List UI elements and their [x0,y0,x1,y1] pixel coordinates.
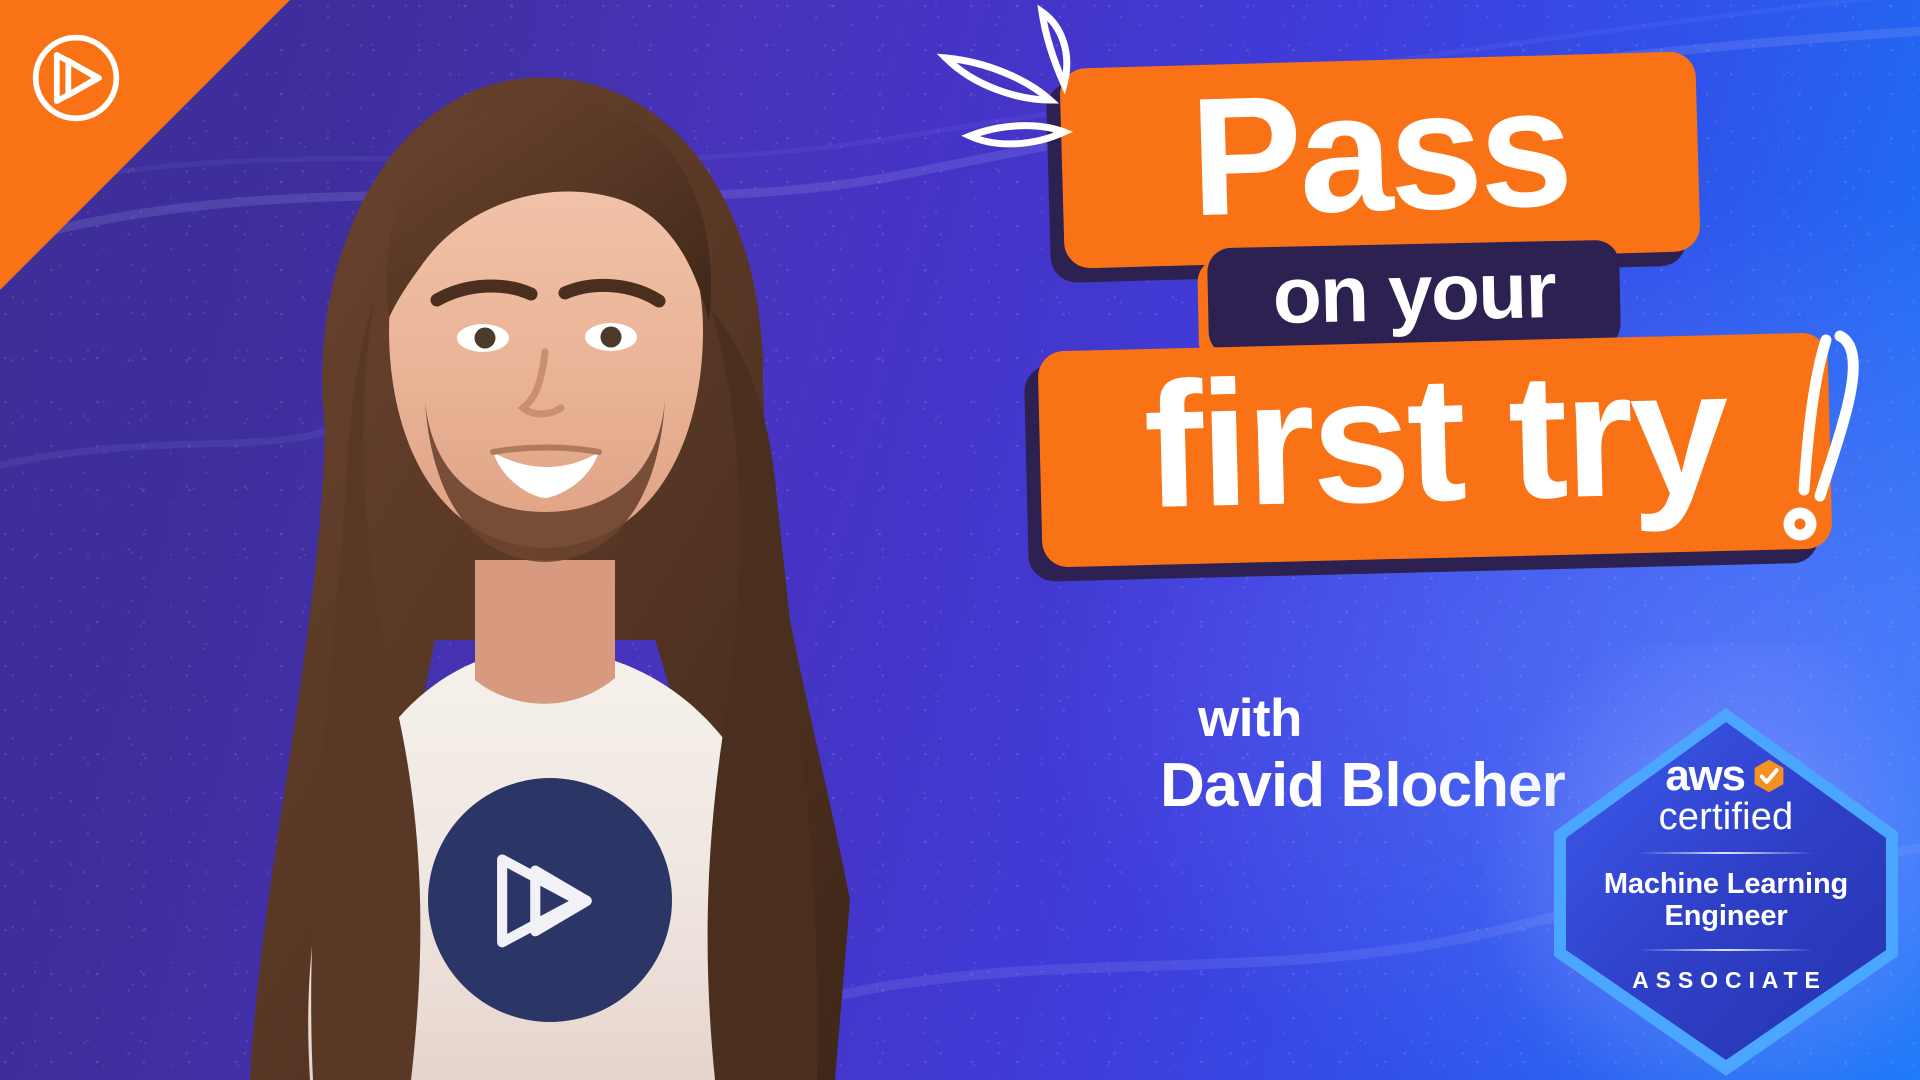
aws-brand-text: aws [1665,756,1744,796]
aws-wordmark: aws [1665,756,1786,796]
orange-hex-check-icon [1751,758,1787,794]
aws-certification-badge: aws certified Machine Learning Engineer … [1548,704,1904,1080]
play-triangle-circle-logo-icon [28,30,124,126]
aws-badge-content: aws certified Machine Learning Engineer … [1548,704,1904,1080]
aws-divider-top [1638,852,1814,854]
aws-certification-name: Machine Learning Engineer [1548,868,1904,933]
title-lockup: Pass on your first try [1040,48,1840,568]
hand-drawn-exclamation-icon [1770,318,1880,548]
aws-divider-bottom [1638,949,1814,951]
sparkle-strokes-icon [930,0,1120,170]
aws-certification-level: ASSOCIATE [1625,967,1826,994]
aws-certified-text: certified [1659,798,1794,836]
title-badge-pass: Pass [1059,51,1700,269]
title-badge-first-try: first try [1037,332,1832,567]
thumbnail-stage: Pass on your first try with David Bloche… [0,0,1920,1080]
